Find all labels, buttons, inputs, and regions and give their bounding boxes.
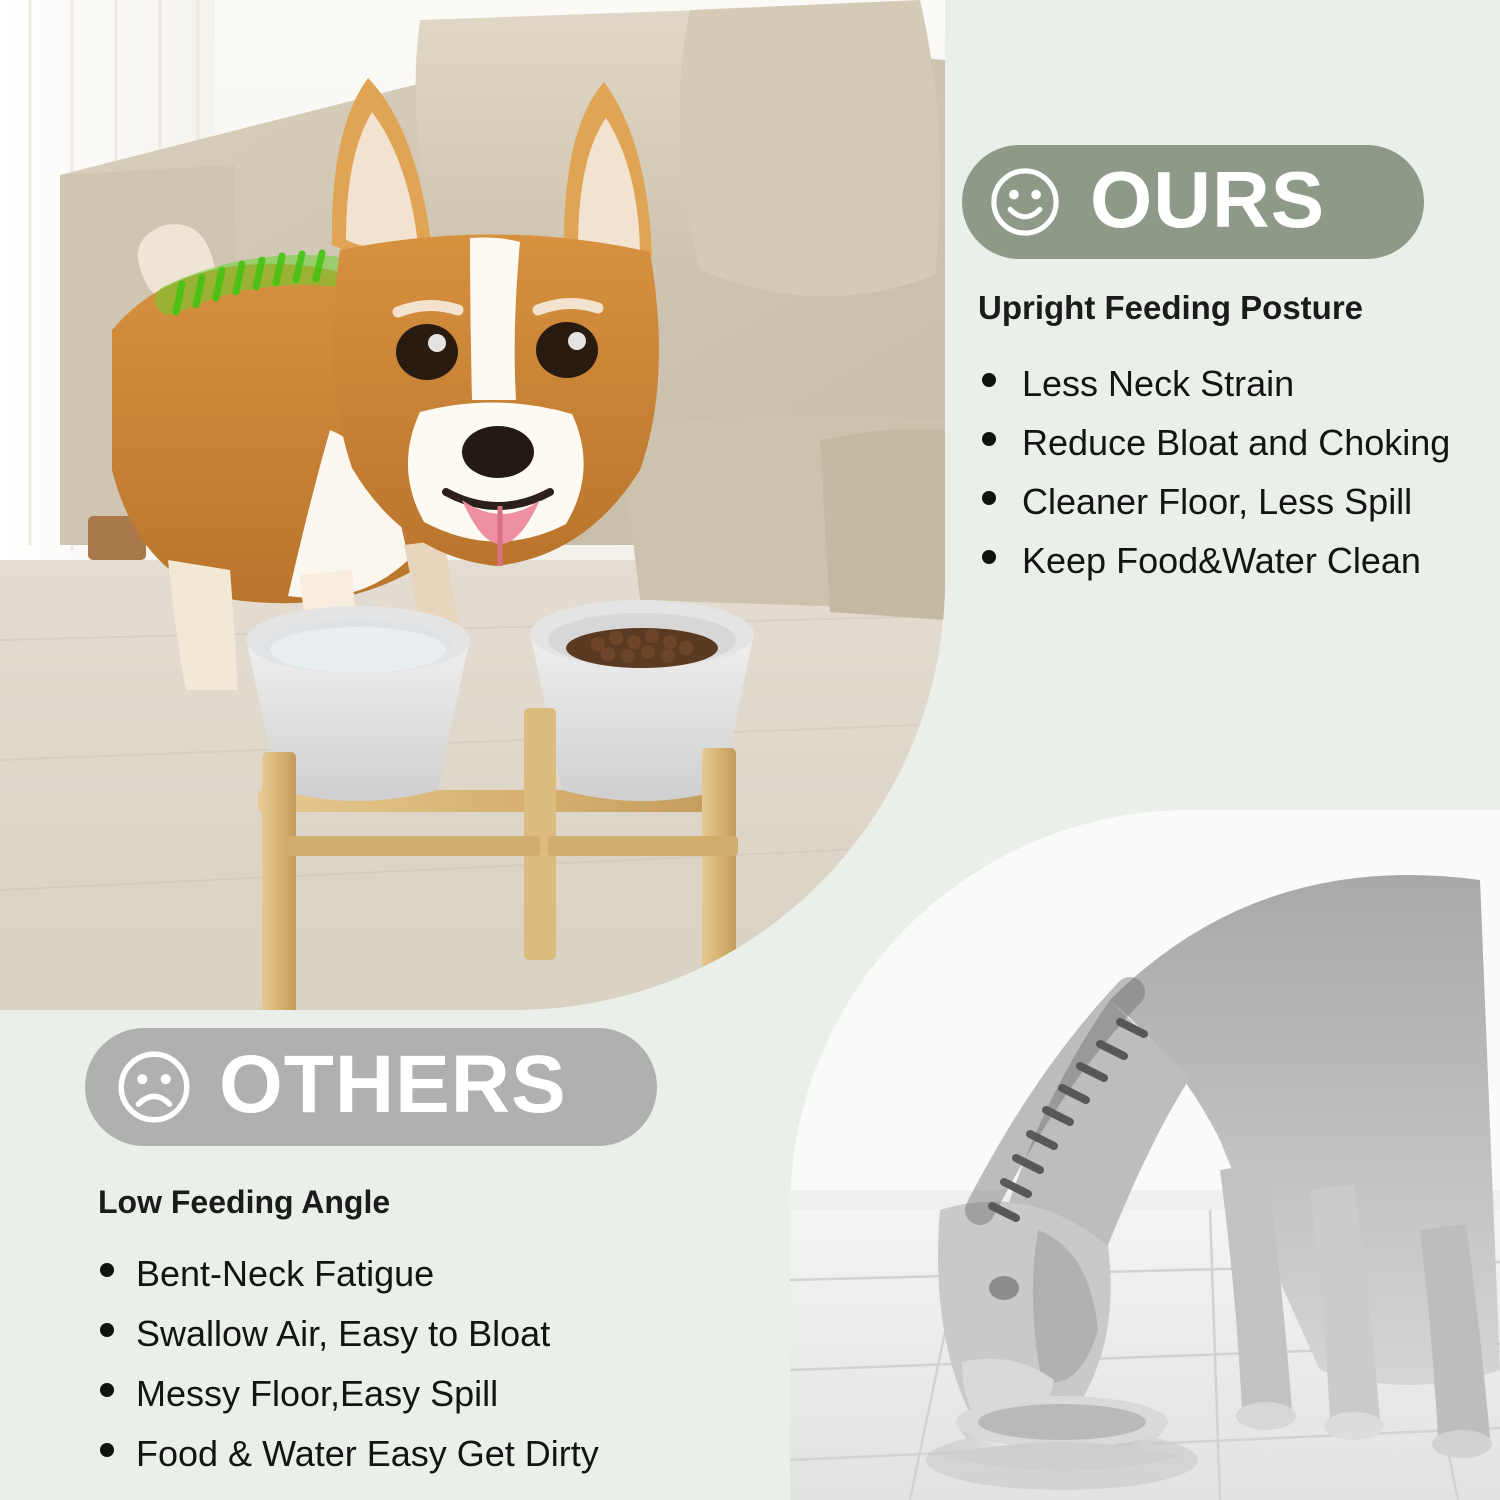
list-item: Reduce Bloat and Choking — [978, 425, 1478, 461]
list-item: Keep Food&Water Clean — [978, 543, 1478, 579]
list-item: Bent-Neck Fatigue — [98, 1256, 678, 1292]
list-item-label: Less Neck Strain — [1022, 366, 1294, 402]
others-badge: OTHERS — [85, 1028, 657, 1146]
list-item-label: Reduce Bloat and Choking — [1022, 425, 1450, 461]
others-badge-label: OTHERS — [219, 1044, 567, 1126]
list-item-label: Messy Floor,Easy Spill — [136, 1376, 498, 1412]
others-text-block: Low Feeding Angle Bent-Neck Fatigue Swal… — [98, 1185, 678, 1496]
bullet-dot-icon — [100, 1443, 114, 1457]
ours-badge-label: OURS — [1090, 160, 1325, 240]
bullet-dot-icon — [982, 432, 996, 446]
dog-bent-over-floor-bowl-photo — [790, 810, 1500, 1500]
frowning-face-icon — [115, 1048, 193, 1126]
kibble — [566, 628, 718, 668]
bullet-dot-icon — [982, 373, 996, 387]
list-item-label: Cleaner Floor, Less Spill — [1022, 484, 1412, 520]
bullet-dot-icon — [100, 1383, 114, 1397]
ours-badge: OURS — [962, 145, 1424, 259]
list-item-label: Food & Water Easy Get Dirty — [136, 1436, 599, 1472]
list-item-label: Bent-Neck Fatigue — [136, 1256, 434, 1292]
others-drawback-list: Bent-Neck Fatigue Swallow Air, Easy to B… — [98, 1256, 678, 1472]
list-item: Swallow Air, Easy to Bloat — [98, 1316, 678, 1352]
bent-neck-dog-illustration — [790, 810, 1500, 1500]
ours-heading: Upright Feeding Posture — [978, 290, 1478, 326]
list-item: Messy Floor,Easy Spill — [98, 1376, 678, 1412]
list-item: Less Neck Strain — [978, 366, 1478, 402]
smiley-face-icon — [988, 165, 1062, 239]
bullet-dot-icon — [100, 1263, 114, 1277]
list-item: Cleaner Floor, Less Spill — [978, 484, 1478, 520]
bullet-dot-icon — [982, 491, 996, 505]
bullet-dot-icon — [100, 1323, 114, 1337]
list-item-label: Keep Food&Water Clean — [1022, 543, 1421, 579]
ours-text-block: Upright Feeding Posture Less Neck Strain… — [978, 290, 1478, 602]
bullet-dot-icon — [982, 550, 996, 564]
ours-benefit-list: Less Neck Strain Reduce Bloat and Chokin… — [978, 366, 1478, 579]
others-heading: Low Feeding Angle — [98, 1185, 678, 1220]
list-item-label: Swallow Air, Easy to Bloat — [136, 1316, 550, 1352]
list-item: Food & Water Easy Get Dirty — [98, 1436, 678, 1472]
